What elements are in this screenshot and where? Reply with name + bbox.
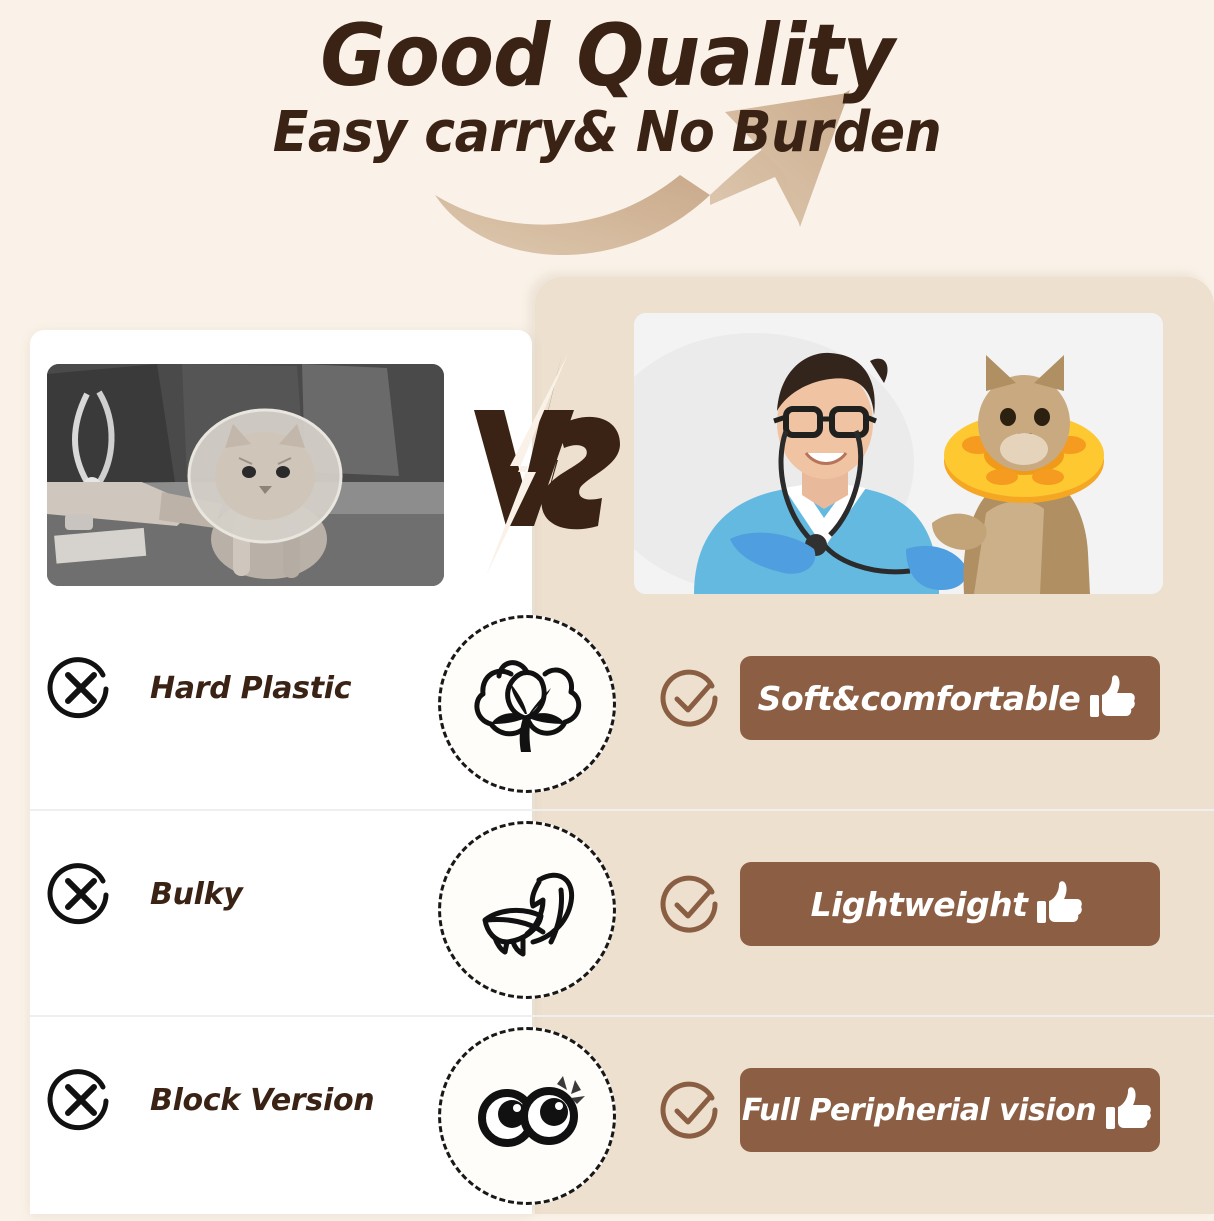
thumbs-up-icon: [1035, 877, 1089, 931]
negative-label: Block Version: [150, 1063, 480, 1137]
check-circle-icon: [658, 871, 724, 937]
positive-badge[interactable]: Lightweight: [740, 862, 1160, 946]
infographic-stage: Good Quality Easy carry& No Burden: [0, 0, 1214, 1214]
comparison-row: Hard Plastic: [0, 603, 1214, 809]
positive-badge[interactable]: Full Peripherial vision: [740, 1068, 1160, 1152]
title-block: Good Quality Easy carry& No Burden: [0, 8, 1214, 166]
positive-label: Lightweight: [811, 885, 1028, 924]
comparison-row: Block Version Full: [0, 1015, 1214, 1221]
photo-hard-plastic-cone: [47, 364, 444, 586]
cotton-boll-icon: [438, 615, 616, 793]
check-circle-icon: [658, 665, 724, 731]
x-circle-icon: [46, 859, 116, 929]
wide-eyes-icon: [438, 1027, 616, 1205]
comparison-row: Bulky: [0, 809, 1214, 1015]
negative-label: Hard Plastic: [150, 651, 480, 725]
thumbs-up-icon: [1104, 1083, 1158, 1137]
page-subtitle: Easy carry& No Burden: [42, 100, 1171, 166]
feather-icon: [438, 821, 616, 999]
thumbs-up-icon: [1088, 671, 1142, 725]
comparison-rows: Hard Plastic: [0, 603, 1214, 1214]
positive-badge[interactable]: Soft&comfortable: [740, 656, 1160, 740]
positive-label: Full Peripherial vision: [742, 1093, 1096, 1128]
positive-label: Soft&comfortable: [758, 679, 1081, 718]
page-title: Good Quality: [42, 8, 1171, 104]
negative-label: Bulky: [150, 857, 480, 931]
header-section: Good Quality Easy carry& No Burden: [0, 0, 1214, 285]
x-circle-icon: [46, 653, 116, 723]
check-circle-icon: [658, 1077, 724, 1143]
vs-lightning-icon: [462, 348, 632, 580]
photo-soft-donut-collar: [634, 313, 1163, 594]
x-circle-icon: [46, 1065, 116, 1135]
